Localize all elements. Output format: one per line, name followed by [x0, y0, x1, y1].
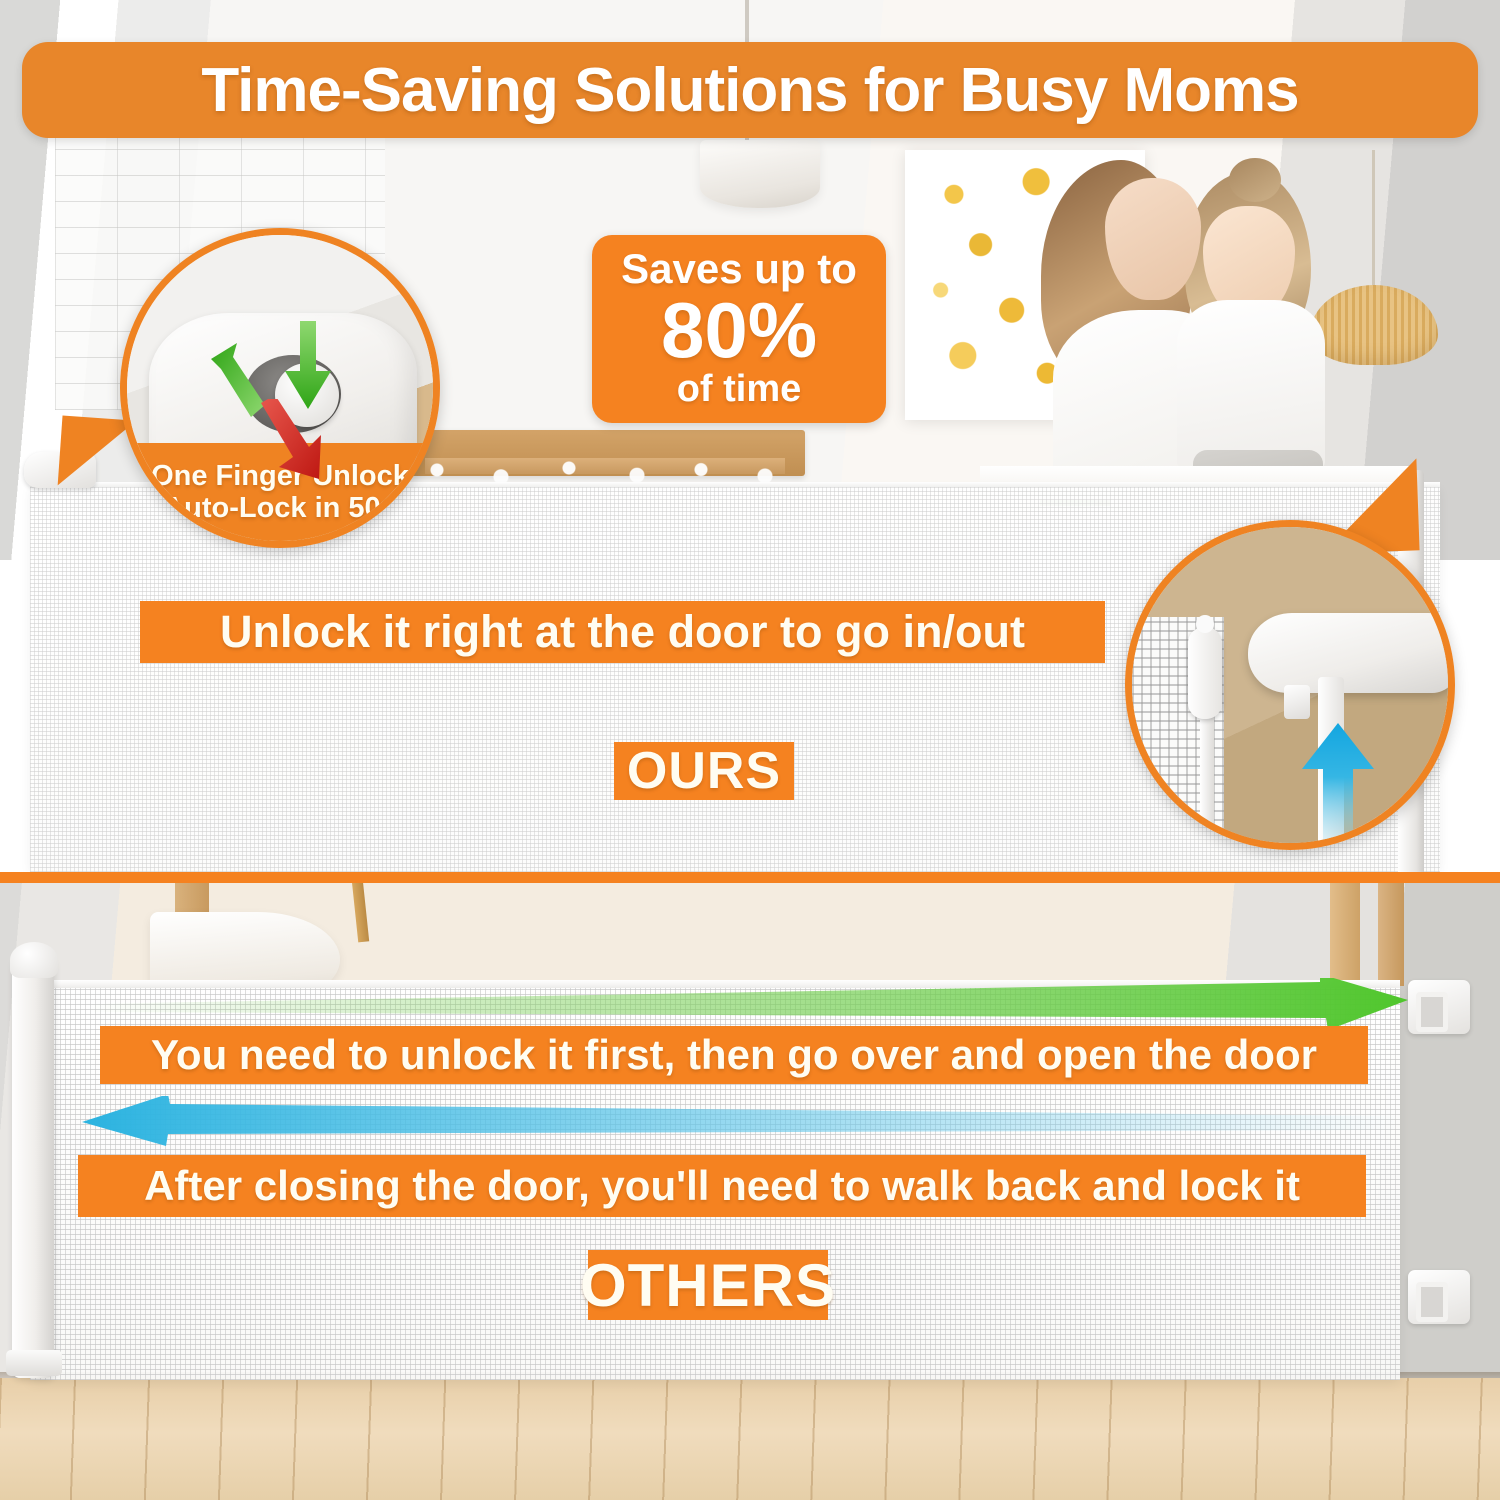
pendant-lamp-icon	[700, 140, 820, 208]
caption-others-2: After closing the door, you'll need to w…	[78, 1155, 1366, 1217]
panel-divider	[0, 872, 1500, 883]
red-down-arrow-icon	[253, 399, 329, 487]
gate-handle-icon	[1248, 613, 1455, 693]
gate-housing-post-others	[12, 958, 54, 1378]
product-infographic: Time-Saving Solutions for Busy Moms Save…	[0, 0, 1500, 1500]
label-ours-text: OURS	[627, 741, 781, 801]
rattan-lamp-cord	[1372, 150, 1375, 290]
caption-ours-text: Unlock it right at the door to go in/out	[220, 606, 1025, 658]
gate-latch-bracket-top-icon	[1408, 980, 1470, 1034]
caption-ours: Unlock it right at the door to go in/out	[140, 601, 1105, 663]
label-others: OTHERS	[588, 1250, 828, 1320]
blue-up-arrow-icon	[1298, 723, 1378, 843]
callout-one-finger-unlock: One Finger Unlock Auto-Lock in 50s	[120, 228, 440, 548]
blue-left-arrow-icon	[82, 1096, 1402, 1148]
gate-post-cap-icon	[10, 942, 58, 978]
page-title-banner: Time-Saving Solutions for Busy Moms	[22, 42, 1478, 138]
badge-line-2: of time	[677, 369, 802, 411]
child-shirt	[1177, 300, 1325, 470]
callout-gate-edge-bar	[1200, 717, 1214, 850]
caption-others-2-text: After closing the door, you'll need to w…	[144, 1162, 1300, 1210]
caption-others-1: You need to unlock it first, then go ove…	[100, 1026, 1368, 1084]
green-down-arrow-icon	[281, 321, 335, 409]
wood-floor	[0, 1378, 1500, 1500]
label-others-text: OTHERS	[580, 1251, 836, 1320]
gate-clip-icon	[1284, 685, 1310, 719]
wood-column-right-1	[1330, 880, 1360, 992]
green-right-arrow-icon	[88, 978, 1408, 1030]
callout-gate-latch	[1125, 520, 1455, 850]
child-top-bun	[1229, 158, 1281, 202]
caption-others-1-text: You need to unlock it first, then go ove…	[151, 1031, 1317, 1079]
wood-column-right-2	[1378, 880, 1404, 986]
badge-percent-value: 80%	[661, 291, 817, 369]
label-ours: OURS	[614, 742, 794, 800]
page-title: Time-Saving Solutions for Busy Moms	[201, 55, 1298, 126]
gate-latch-bracket-bottom-icon	[1408, 1270, 1470, 1324]
mother-face	[1105, 178, 1201, 300]
time-savings-badge: Saves up to 80% of time	[592, 235, 886, 423]
gate-post-foot-icon	[6, 1350, 62, 1376]
badge-line-1: Saves up to	[621, 247, 857, 291]
gate-roller-icon	[1188, 627, 1222, 719]
callout-left-label-line2: Auto-Lock in 50s	[163, 492, 397, 524]
